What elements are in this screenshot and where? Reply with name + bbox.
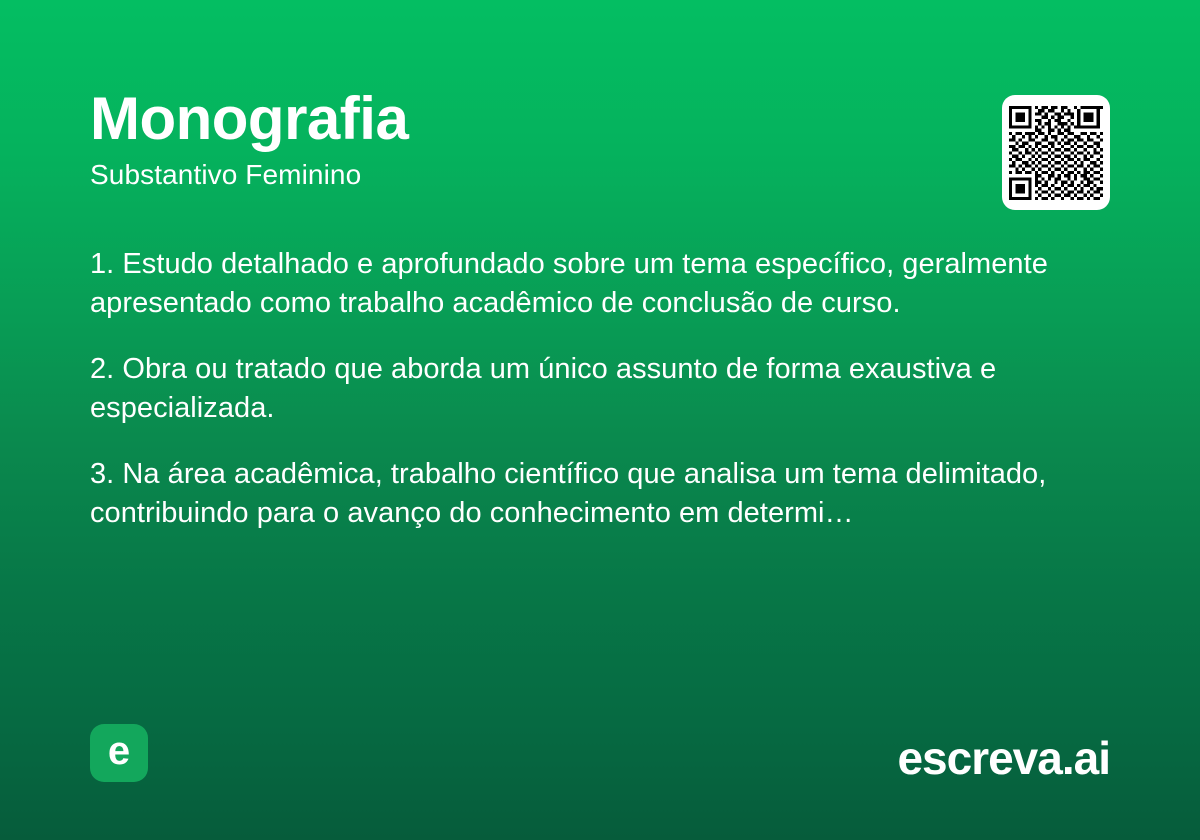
part-of-speech-label: Substantivo Feminino: [90, 158, 1110, 192]
card-footer: e escreva.ai: [90, 720, 1110, 782]
definition-list: 1. Estudo detalhado e aprofundado sobre …: [90, 245, 1100, 532]
entry-header: Monografia Substantivo Feminino: [90, 88, 1110, 192]
brand-wordmark: escreva.ai: [897, 734, 1110, 782]
logo-letter: e: [108, 731, 130, 771]
escreva-logo-icon: e: [90, 724, 148, 782]
definition-item: 1. Estudo detalhado e aprofundado sobre …: [90, 245, 1100, 322]
definition-item: 2. Obra ou tratado que aborda um único a…: [90, 350, 1100, 427]
qr-code-card[interactable]: [1002, 95, 1110, 210]
definition-item: 3. Na área acadêmica, trabalho científic…: [90, 455, 1100, 532]
word-title: Monografia: [90, 88, 1110, 150]
dictionary-entry-card: Monografia Substantivo Feminino 1. Estud…: [0, 0, 1200, 840]
qr-code-icon: [1009, 106, 1103, 200]
